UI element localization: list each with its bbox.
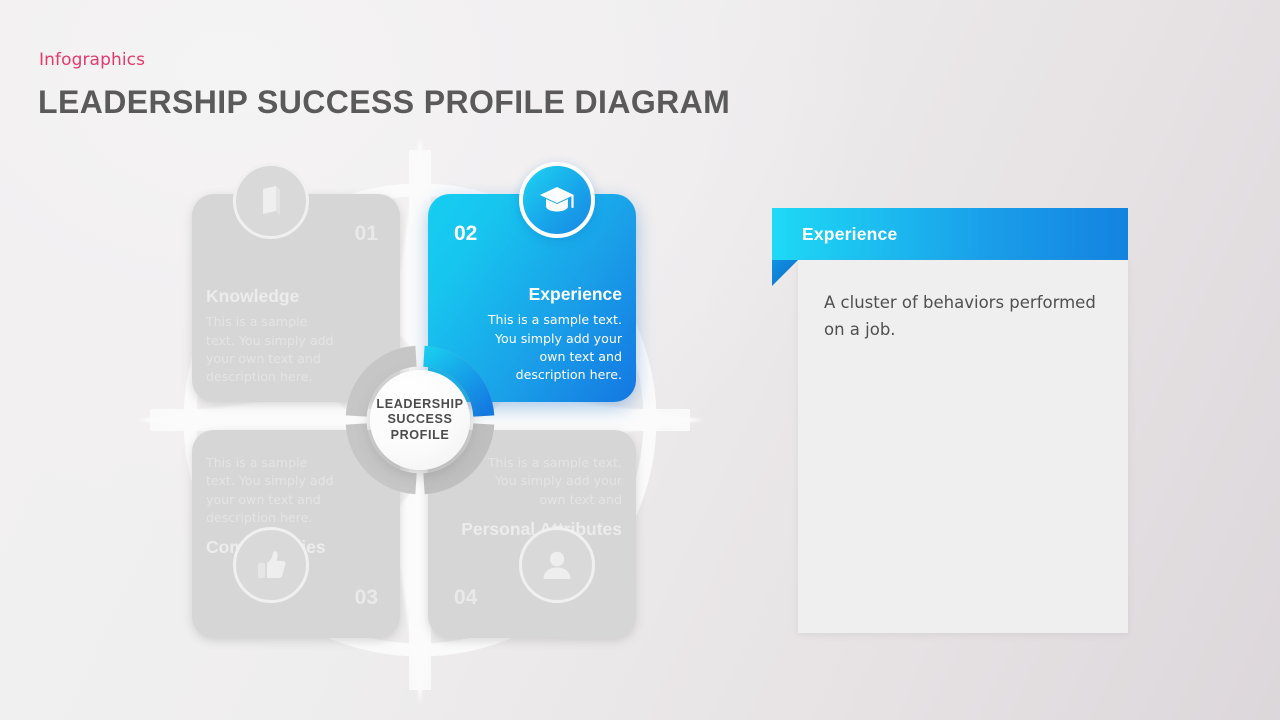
center-hub-label: LEADERSHIP SUCCESS PROFILE [376, 397, 463, 443]
quadrant-title-experience: Experience [442, 284, 622, 304]
detail-panel: Experience A cluster of behaviors perfor… [772, 208, 1128, 260]
quadrant-body-competencies: This is a sample text. You simply add yo… [206, 454, 334, 527]
quadrant-number-03: 03 [355, 586, 378, 610]
graduation-cap-icon[interactable] [519, 162, 595, 238]
slide-canvas: Infographics LEADERSHIP SUCCESS PROFILE … [0, 0, 1280, 720]
center-line-1: LEADERSHIP [376, 397, 463, 412]
thumbs-up-icon[interactable] [233, 527, 309, 603]
book-icon-glyph [254, 184, 288, 218]
center-line-3: PROFILE [376, 428, 463, 443]
detail-panel-body: A cluster of behaviors performed on a jo… [798, 260, 1128, 633]
quadrant-body-personal-attributes: This is a sample text. You simply add yo… [486, 454, 622, 509]
quadrant-number-02: 02 [454, 222, 477, 246]
quadrant-body-experience: This is a sample text. You simply add yo… [486, 311, 622, 384]
quadrant-body-knowledge: This is a sample text. You simply add yo… [206, 313, 334, 386]
page-title: LEADERSHIP SUCCESS PROFILE DIAGRAM [38, 84, 730, 121]
quadrant-number-01: 01 [355, 222, 378, 246]
detail-panel-title: Experience [802, 224, 897, 245]
kicker-label: Infographics [39, 50, 145, 70]
quadrant-title-knowledge: Knowledge [206, 286, 386, 306]
quadrant-number-04: 04 [454, 586, 477, 610]
detail-panel-text: A cluster of behaviors performed on a jo… [824, 290, 1102, 343]
person-icon[interactable] [519, 527, 595, 603]
thumbs-up-icon-glyph [254, 548, 288, 582]
detail-panel-banner: Experience [772, 208, 1128, 260]
center-line-2: SUCCESS [376, 412, 463, 427]
graduation-cap-icon-glyph [538, 183, 576, 217]
ribbon-fold [772, 260, 798, 286]
leadership-diagram: 01 Knowledge This is a sample text. You … [130, 130, 710, 710]
person-icon-glyph [540, 548, 574, 582]
center-hub[interactable]: LEADERSHIP SUCCESS PROFILE [370, 370, 470, 470]
book-icon[interactable] [233, 163, 309, 239]
